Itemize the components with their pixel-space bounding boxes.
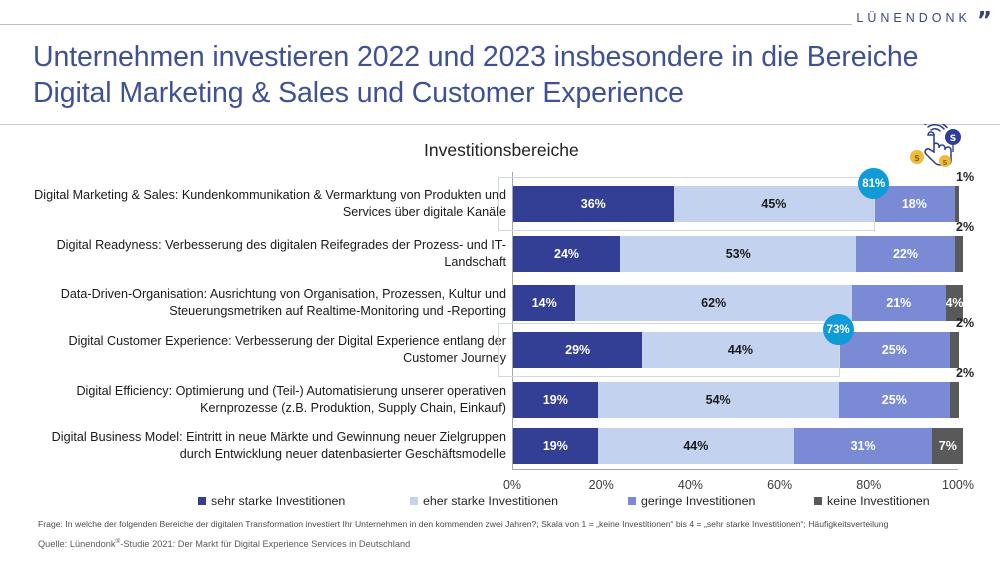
x-axis-tick-label: 60% [767,478,792,492]
bar-segment-label: 44% [683,439,708,453]
bar-segment-2[interactable]: 44% [598,428,794,464]
svg-text:S: S [942,159,947,167]
bar-segment-2[interactable]: 45% [674,186,875,222]
bar-segment-4[interactable] [955,236,964,272]
x-axis-tick-label: 40% [678,478,703,492]
hand-tap-money-icon: S S S [905,124,967,176]
page-title: Unternehmen investieren 2022 und 2023 in… [33,39,963,111]
category-label: Digital Business Model: Eintritt in neue… [34,429,506,463]
chart-title: Investitionsbereiche [424,140,579,161]
bar-row[interactable]: 19%54%25% [513,382,959,418]
bar-segment-label: 22% [893,247,918,261]
bar-segment-1[interactable]: 36% [513,186,674,222]
bar-segment-2[interactable]: 53% [620,236,856,272]
bar-segment-2[interactable]: 62% [575,285,852,321]
category-label: Digital Efficiency: Optimierung und (Tei… [34,383,506,417]
legend-item[interactable]: geringe Investitionen [628,494,755,508]
bar-segment-outside-label: 1% [956,170,974,184]
bar-row[interactable]: 24%53%22% [513,236,963,272]
bar-segment-label: 7% [939,439,957,453]
bar-segment-label: 36% [581,197,606,211]
value-callout-bubble[interactable]: 73% [823,314,854,345]
bar-row[interactable]: 29%44%25% [513,332,959,368]
bar-segment-1[interactable]: 14% [513,285,575,321]
bar-segment-4[interactable] [955,186,959,222]
bar-segment-label: 29% [565,343,590,357]
bar-segment-label: 53% [726,247,751,261]
bar-segment-3[interactable]: 31% [794,428,932,464]
legend-swatch-icon [628,497,636,505]
bar-segment-1[interactable]: 24% [513,236,620,272]
bar-segment-outside-label: 2% [956,316,974,330]
legend-label: sehr starke Investitionen [211,494,345,508]
bar-segment-4[interactable]: 7% [932,428,963,464]
bar-segment-label: 19% [543,393,568,407]
category-label-list: Digital Marketing & Sales: Kundenkommuni… [20,172,506,470]
x-axis-tick-label: 0% [503,478,521,492]
legend-item[interactable]: eher starke Investitionen [410,494,558,508]
x-axis-line [512,469,958,470]
svg-text:S: S [914,154,920,163]
slide-root: LÜNENDONK ” Unternehmen investieren 2022… [0,0,1000,563]
bar-segment-3[interactable]: 22% [856,236,954,272]
bar-segment-label: 14% [532,296,557,310]
title-divider [0,124,1000,125]
bar-segment-label: 45% [761,197,786,211]
category-label: Data-Driven-Organisation: Ausrichtung vo… [34,286,506,320]
bar-segment-outside-label: 2% [956,220,974,234]
bar-segment-3[interactable]: 21% [852,285,946,321]
legend-item[interactable]: sehr starke Investitionen [198,494,345,508]
bar-segment-label: 25% [882,393,907,407]
x-axis-tick-label: 80% [856,478,881,492]
bar-row[interactable]: 36%45%18% [513,186,959,222]
bar-row[interactable]: 19%44%31%7% [513,428,963,464]
bar-segment-label: 44% [728,343,753,357]
bar-segment-3[interactable]: 25% [839,332,951,368]
quote-mark-icon: ” [977,15,992,27]
bar-segment-label: 21% [886,296,911,310]
value-callout-label: 81% [862,178,885,190]
bar-segment-label: 18% [902,197,927,211]
brand-name: LÜNENDONK [856,11,971,25]
svg-text:S: S [950,134,956,144]
bar-segment-1[interactable]: 29% [513,332,642,368]
legend-label: eher starke Investitionen [423,494,558,508]
legend-swatch-icon [814,497,822,505]
x-axis-ticks: 0%20%40%60%80%100% [512,478,958,494]
footnote-source: Quelle: Lünendonk®-Studie 2021: Der Mark… [38,538,410,549]
legend-label: geringe Investitionen [641,494,755,508]
bar-segment-4[interactable] [950,332,959,368]
bar-segment-label: 31% [851,439,876,453]
bar-segment-2[interactable]: 54% [598,382,839,418]
bar-row[interactable]: 14%62%21%4% [513,285,963,321]
category-label: Digital Marketing & Sales: Kundenkommuni… [34,187,506,221]
x-axis-tick-label: 20% [589,478,614,492]
header-divider-top [0,24,852,25]
legend-label: keine Investitionen [827,494,930,508]
bar-segment-label: 24% [554,247,579,261]
bar-segment-3[interactable]: 25% [839,382,951,418]
footnote-source-prefix: Quelle: Lünendonk [38,539,115,549]
bar-segment-label: 25% [882,343,907,357]
category-label: Digital Readyness: Verbesserung des digi… [34,237,506,271]
chart-plot-area: 36%45%18%1%81%24%53%22%2%14%62%21%4%29%4… [512,172,958,470]
x-axis-tick-label: 100% [942,478,974,492]
bar-segment-label: 4% [946,296,964,310]
footnote-source-suffix: -Studie 2021: Der Markt für Digital Expe… [120,539,410,549]
bar-segment-label: 19% [543,439,568,453]
legend-swatch-icon [410,497,418,505]
value-callout-label: 73% [827,324,850,336]
legend-swatch-icon [198,497,206,505]
legend-item[interactable]: keine Investitionen [814,494,930,508]
bar-segment-label: 62% [701,296,726,310]
bar-segment-outside-label: 2% [956,366,974,380]
bar-segment-4[interactable] [950,382,959,418]
bar-segment-2[interactable]: 44% [642,332,838,368]
footnote-question: Frage: In welche der folgenden Bereiche … [38,519,888,529]
brand-logo: LÜNENDONK ” [856,11,992,25]
bar-segment-label: 54% [706,393,731,407]
bar-segment-1[interactable]: 19% [513,428,598,464]
category-label: Digital Customer Experience: Verbesserun… [34,333,506,367]
chart-legend: sehr starke Investitioneneher starke Inv… [150,494,970,510]
bar-segment-1[interactable]: 19% [513,382,598,418]
